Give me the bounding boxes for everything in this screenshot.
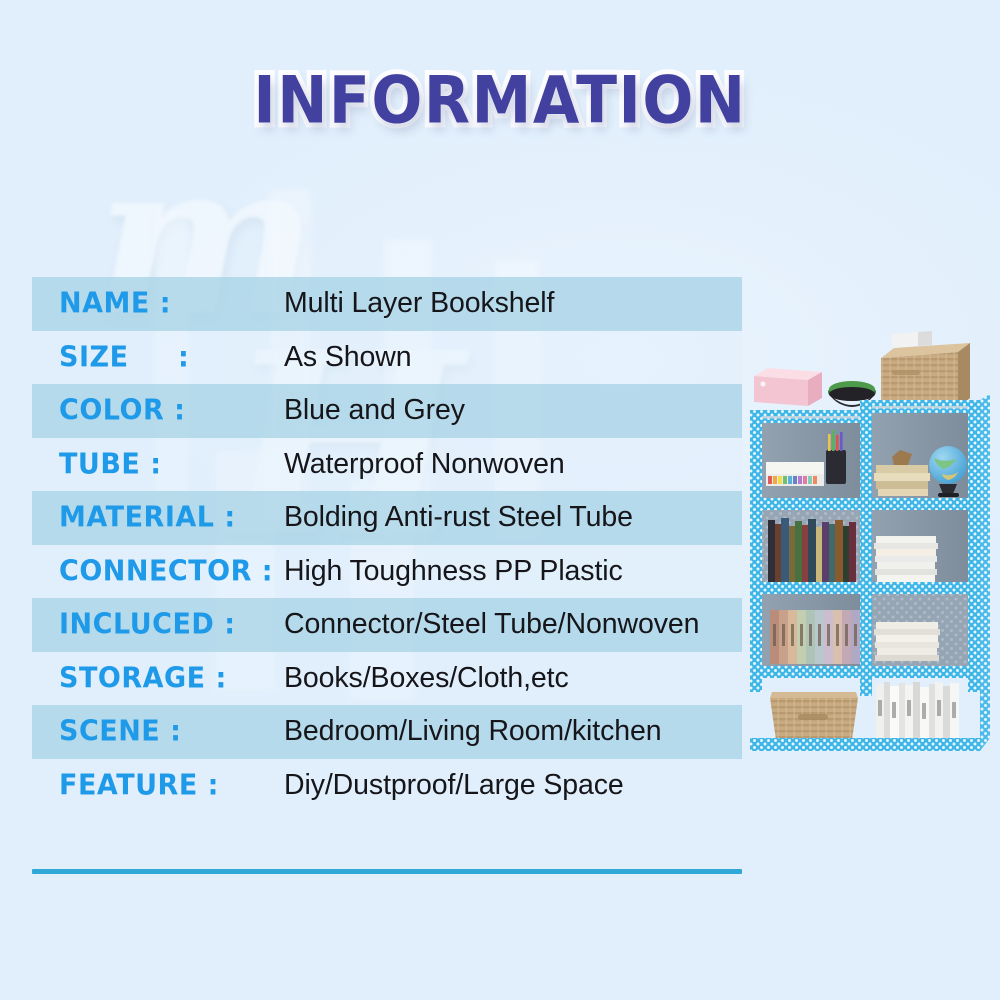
table-row: CONNECTOR : High Toughness PP Plastic: [32, 545, 742, 599]
spec-value-tube: Waterproof Nonwoven: [284, 448, 742, 481]
spec-value-name: Multi Layer Bookshelf: [284, 287, 742, 320]
spec-label-scene: SCENE :: [32, 715, 284, 748]
page-title: INFORMATION: [253, 63, 746, 139]
spec-label-color: COLOR :: [32, 394, 284, 427]
pink-storage-box: [754, 368, 822, 406]
spec-label-included: INCLUCED :: [32, 608, 284, 641]
poster-canvas: m H INFORMATION NAME : Multi Layer Books…: [0, 0, 1000, 1000]
spec-value-feature: Diy/Dustproof/Large Space: [284, 769, 742, 802]
paper-box-stack: [766, 462, 824, 486]
spec-value-size: As Shown: [284, 341, 742, 374]
spec-value-material: Bolding Anti-rust Steel Tube: [284, 501, 742, 534]
spec-value-color: Blue and Grey: [284, 394, 742, 427]
table-row: TUBE : Waterproof Nonwoven: [32, 438, 742, 492]
white-books: [876, 682, 959, 742]
spec-label-feature: FEATURE :: [32, 769, 284, 802]
spec-label-name: NAME :: [32, 287, 284, 320]
table-row: STORAGE : Books/Boxes/Cloth,etc: [32, 652, 742, 706]
spec-value-connector: High Toughness PP Plastic: [284, 555, 742, 588]
table-row: INCLUCED : Connector/Steel Tube/Nonwoven: [32, 598, 742, 652]
table-row: MATERIAL : Bolding Anti-rust Steel Tube: [32, 491, 742, 545]
table-row: SCENE : Bedroom/Living Room/kitchen: [32, 705, 742, 759]
spec-value-scene: Bedroom/Living Room/kitchen: [284, 715, 742, 748]
dark-books: [768, 518, 856, 582]
spec-label-connector: CONNECTOR :: [32, 555, 284, 588]
pastel-books: [770, 610, 860, 664]
magazine-stack: [874, 622, 940, 661]
table-row: NAME : Multi Layer Bookshelf: [32, 277, 742, 331]
spec-label-material: MATERIAL :: [32, 501, 284, 534]
spec-value-storage: Books/Boxes/Cloth,etc: [284, 662, 742, 695]
table-row: FEATURE : Diy/Dustproof/Large Space: [32, 759, 742, 813]
wicker-basket-top: [881, 331, 970, 408]
table-underline: [32, 869, 742, 874]
specification-table: NAME : Multi Layer Bookshelf SIZE : As S…: [32, 277, 742, 812]
magazines: [874, 536, 938, 582]
product-image-bookshelf: [742, 322, 990, 752]
table-row: SIZE : As Shown: [32, 331, 742, 385]
table-row: COLOR : Blue and Grey: [32, 384, 742, 438]
spec-label-tube: TUBE :: [32, 448, 284, 481]
wicker-basket-shelf: [770, 692, 858, 740]
spec-label-size: SIZE :: [32, 341, 284, 374]
spec-label-storage: STORAGE :: [32, 662, 284, 695]
spec-value-included: Connector/Steel Tube/Nonwoven: [284, 608, 742, 641]
page-title-container: INFORMATION: [0, 66, 1000, 136]
